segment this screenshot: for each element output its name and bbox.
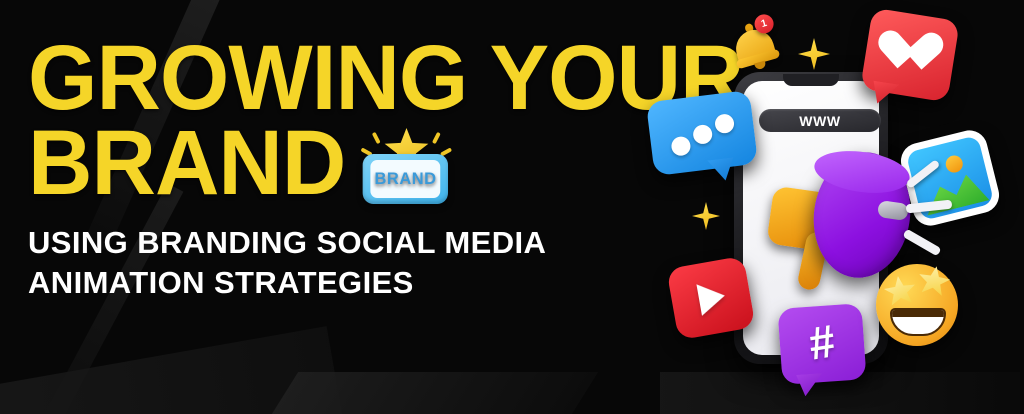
- play-triangle: [696, 280, 727, 316]
- brand-badge-star-icon: BRAND: [359, 126, 452, 204]
- badge-plate: BRAND: [363, 154, 448, 204]
- sun-shape: [944, 154, 965, 175]
- hashtag-icon: #: [777, 303, 866, 385]
- emoji-star-eye: [882, 274, 918, 308]
- banner-root: GROWING YOUR BRAND BRAND: [0, 0, 1024, 414]
- badge-label: BRAND: [375, 171, 437, 187]
- bell-icon: 1: [727, 17, 782, 73]
- url-bar-text: WWW: [799, 113, 840, 129]
- page-subtitle: USING BRANDING SOCIAL MEDIA ANIMATION ST…: [28, 223, 668, 302]
- chat-dot: [670, 136, 691, 157]
- chat-dot: [714, 113, 735, 134]
- sound-wave-line: [906, 159, 941, 189]
- heart-icon: [860, 8, 960, 103]
- hashtag-glyph: #: [806, 318, 838, 367]
- sparkle-ray-icon: [372, 132, 381, 144]
- chat-dot: [692, 124, 713, 145]
- sparkle-ray-icon: [432, 132, 441, 144]
- bell-clapper: [754, 61, 767, 71]
- play-icon: [666, 256, 755, 340]
- headline-line-2: BRAND: [28, 121, 345, 206]
- bubble-tail: [796, 373, 823, 397]
- star-struck-emoji-icon: [876, 264, 958, 346]
- emoji-star-eye: [916, 263, 953, 298]
- bubble-tail: [707, 157, 735, 182]
- badge-inner-panel: BRAND: [371, 160, 441, 198]
- phone-notch: [783, 74, 839, 86]
- background-streak: [242, 372, 598, 414]
- page-title: GROWING YOUR BRAND BRAND: [28, 36, 649, 205]
- subtitle-line-2: ANIMATION STRATEGIES: [28, 263, 668, 303]
- sparkle-icon: [692, 202, 720, 230]
- headline-line-1: GROWING YOUR: [28, 36, 649, 121]
- heart-shape: [887, 32, 933, 74]
- emoji-mouth: [890, 308, 946, 336]
- url-bar: WWW: [759, 109, 881, 132]
- text-block: GROWING YOUR BRAND BRAND: [28, 36, 668, 303]
- sound-wave-line: [902, 229, 941, 257]
- social-media-3d-cluster: WWW 1: [648, 0, 1024, 414]
- sparkle-icon: [798, 38, 830, 70]
- subtitle-line-1: USING BRANDING SOCIAL MEDIA: [28, 223, 668, 263]
- chat-dots-icon: [646, 90, 758, 176]
